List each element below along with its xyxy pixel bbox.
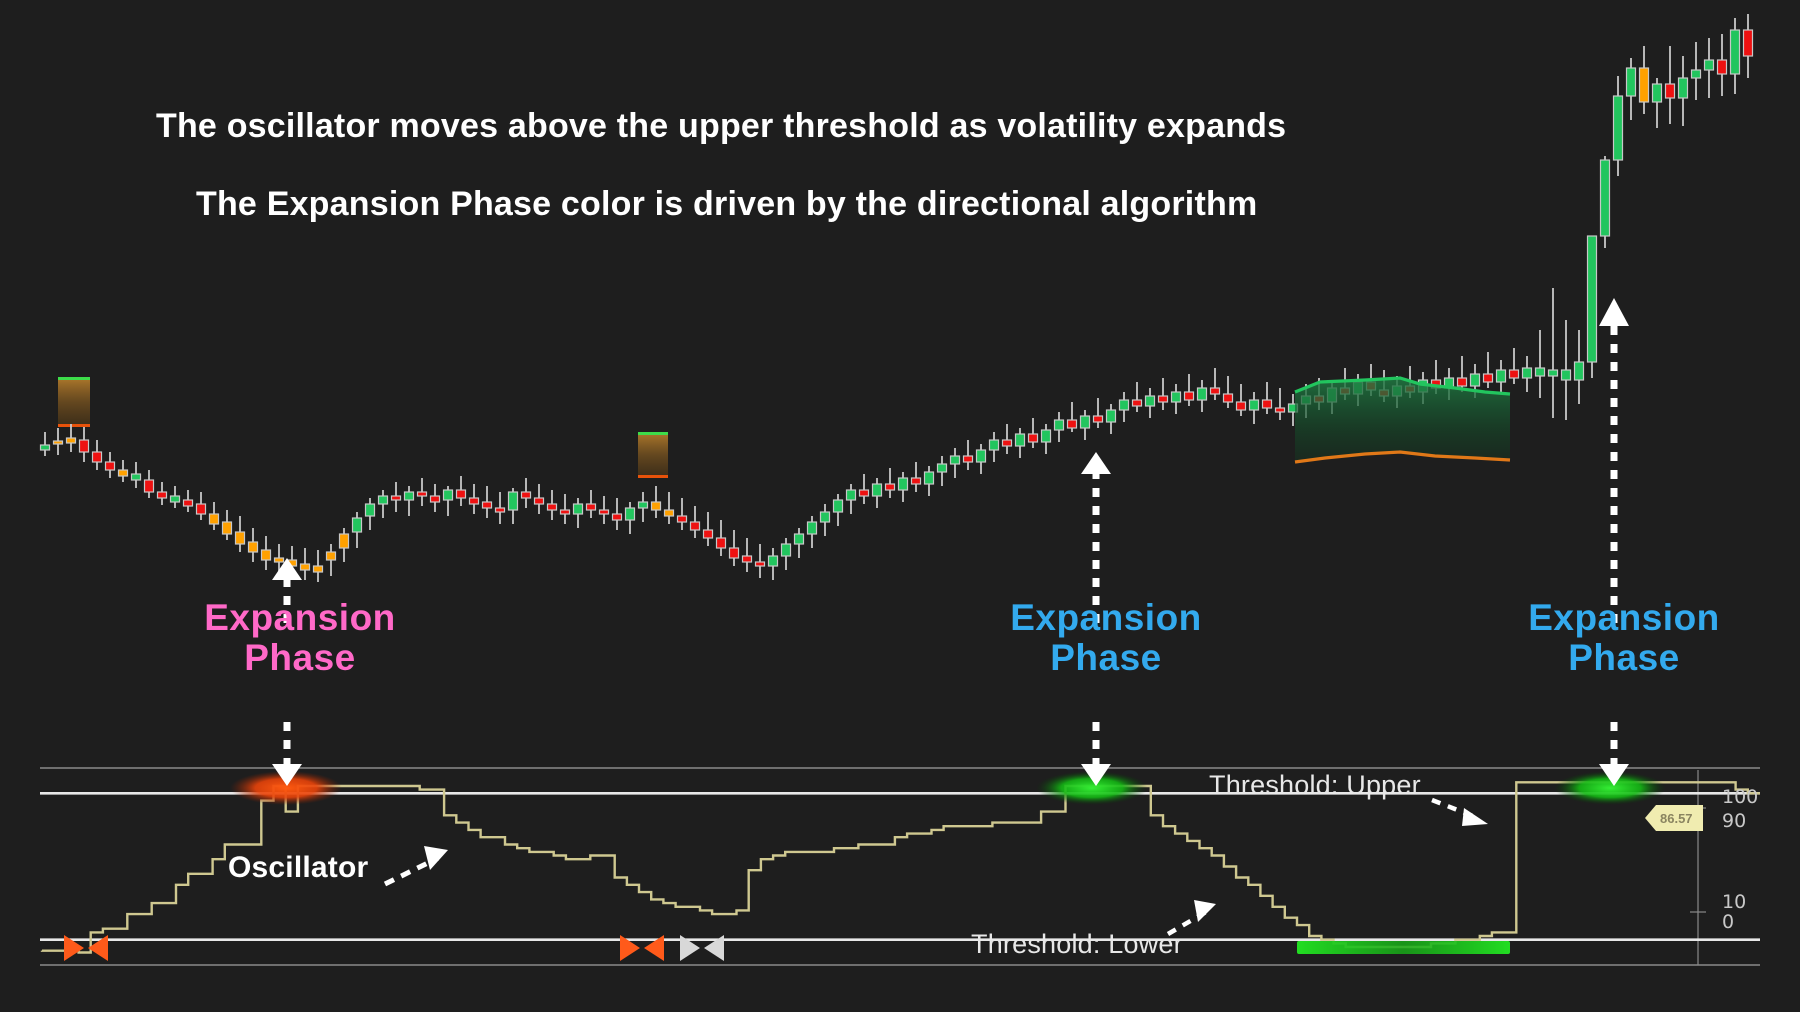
candlestick-series xyxy=(41,14,1753,582)
candle xyxy=(1744,30,1753,56)
candle xyxy=(834,500,843,512)
candle xyxy=(1484,374,1493,382)
candle xyxy=(1094,416,1103,422)
candle xyxy=(938,464,947,472)
candle xyxy=(457,490,466,498)
candle xyxy=(392,496,401,500)
candle xyxy=(639,502,648,508)
candle xyxy=(340,534,349,548)
green-band-lower-line xyxy=(1295,452,1510,462)
candle xyxy=(1120,400,1129,410)
candle xyxy=(1679,78,1688,98)
candle xyxy=(899,478,908,490)
candle xyxy=(80,440,89,452)
candle xyxy=(1068,420,1077,428)
candle xyxy=(652,502,661,510)
candle xyxy=(600,510,609,514)
candle xyxy=(1380,390,1389,396)
candle xyxy=(1458,378,1467,386)
expansion-glow-1 xyxy=(230,771,342,805)
candle xyxy=(1432,380,1441,388)
scale-tick-90: 90 xyxy=(1722,810,1746,832)
candle xyxy=(405,492,414,500)
candle xyxy=(808,522,817,534)
candle xyxy=(379,496,388,504)
candle xyxy=(743,556,752,562)
candle xyxy=(1159,396,1168,402)
candle xyxy=(1705,60,1714,70)
candle xyxy=(665,510,674,516)
candle xyxy=(301,564,310,570)
candle xyxy=(1263,400,1272,408)
bowtie-marker xyxy=(620,935,640,961)
candle xyxy=(847,490,856,500)
chart-screenshot: The oscillator moves above the upper thr… xyxy=(0,0,1800,1012)
oscillator-annotation-label: Oscillator xyxy=(228,851,368,885)
bottom-markers-row xyxy=(64,935,1510,961)
candle xyxy=(132,474,141,480)
candle xyxy=(873,484,882,496)
candle xyxy=(1419,380,1428,392)
candle xyxy=(1302,396,1311,404)
candle xyxy=(1107,410,1116,422)
candle xyxy=(522,492,531,498)
candle xyxy=(249,542,258,552)
candle xyxy=(1029,434,1038,442)
candle xyxy=(535,498,544,504)
candle xyxy=(1354,382,1363,394)
candle xyxy=(236,532,245,544)
expansion-glow-markers xyxy=(230,771,1666,805)
candle xyxy=(1276,408,1285,412)
candle xyxy=(1211,388,1220,394)
candle xyxy=(1640,68,1649,102)
candle xyxy=(912,478,921,484)
candle xyxy=(795,534,804,544)
candle xyxy=(145,480,154,492)
candle xyxy=(977,450,986,462)
candle xyxy=(262,550,271,560)
candle xyxy=(1614,96,1623,160)
candle xyxy=(1003,440,1012,446)
candle xyxy=(769,556,778,566)
candle xyxy=(106,462,115,470)
candle xyxy=(1471,374,1480,386)
candle xyxy=(860,490,869,496)
candle xyxy=(1055,420,1064,430)
candle xyxy=(327,552,336,560)
expansion-glow-2 xyxy=(1036,771,1148,805)
candle xyxy=(418,492,427,496)
candle xyxy=(990,440,999,450)
candle xyxy=(1588,236,1597,362)
green-channel-band xyxy=(1295,378,1510,462)
candle xyxy=(821,512,830,522)
price-tag-nose xyxy=(1645,805,1656,831)
candle xyxy=(704,530,713,538)
candle xyxy=(275,558,284,562)
scale-tick-100: 100 xyxy=(1722,786,1758,808)
candle xyxy=(1562,370,1571,380)
price-tag-value: 86.57 xyxy=(1656,805,1703,831)
candle xyxy=(951,456,960,464)
candle xyxy=(1185,392,1194,400)
candle xyxy=(1601,160,1610,236)
candle xyxy=(184,500,193,506)
expansion-phase-label-3: Expansion Phase xyxy=(1444,598,1800,678)
candle xyxy=(444,490,453,500)
candle xyxy=(1666,84,1675,98)
candle xyxy=(1692,70,1701,78)
candle xyxy=(1198,388,1207,400)
bowtie-marker xyxy=(704,935,724,961)
candle xyxy=(1315,396,1324,402)
scale-tick-0: 0 xyxy=(1722,911,1734,933)
candle xyxy=(587,504,596,510)
candle xyxy=(925,472,934,484)
candle xyxy=(678,516,687,522)
candle xyxy=(1523,368,1532,378)
candle xyxy=(496,508,505,512)
expansion-phase-label-1: Expansion Phase xyxy=(120,598,480,678)
candle xyxy=(41,445,50,450)
candle xyxy=(483,502,492,508)
candle xyxy=(1549,370,1558,376)
candle xyxy=(1224,394,1233,402)
candle xyxy=(691,522,700,530)
candle xyxy=(1289,404,1298,412)
candle xyxy=(431,496,440,502)
candle xyxy=(561,510,570,514)
candle xyxy=(626,508,635,520)
candle xyxy=(1627,68,1636,96)
bowtie-marker xyxy=(88,935,108,961)
orange-zone-left xyxy=(58,377,90,427)
candle xyxy=(1497,370,1506,382)
candle xyxy=(613,514,622,520)
candle xyxy=(1718,60,1727,74)
candle xyxy=(470,498,479,504)
candle xyxy=(288,560,297,566)
candle xyxy=(1172,392,1181,402)
candle xyxy=(1081,416,1090,428)
candle xyxy=(964,456,973,462)
bowtie-marker xyxy=(680,935,700,961)
candle xyxy=(67,438,76,443)
bowtie-marker xyxy=(644,935,664,961)
candle xyxy=(1237,402,1246,410)
candle xyxy=(756,562,765,566)
bowtie-marker xyxy=(64,935,84,961)
candle xyxy=(210,514,219,524)
candle xyxy=(1341,388,1350,394)
candle xyxy=(1731,30,1740,74)
candle xyxy=(158,492,167,498)
candle xyxy=(1250,400,1259,410)
headline-line-1: The oscillator moves above the upper thr… xyxy=(156,107,1286,146)
scale-tick-10: 10 xyxy=(1722,891,1746,913)
candle xyxy=(197,504,206,514)
candle xyxy=(509,492,518,510)
candle xyxy=(366,504,375,516)
candle xyxy=(1393,386,1402,396)
candle xyxy=(1445,378,1454,388)
candle xyxy=(730,548,739,558)
candle xyxy=(119,470,128,476)
candle xyxy=(353,518,362,532)
candle xyxy=(1328,388,1337,402)
candle xyxy=(886,484,895,490)
candle xyxy=(717,538,726,548)
candle xyxy=(782,544,791,556)
expansion-phase-label-2: Expansion Phase xyxy=(926,598,1286,678)
candle xyxy=(1575,362,1584,380)
candle xyxy=(93,452,102,462)
candle xyxy=(54,441,63,444)
candle xyxy=(314,566,323,572)
candle xyxy=(223,522,232,534)
candle xyxy=(1653,84,1662,102)
candle xyxy=(1146,396,1155,406)
candle xyxy=(1367,382,1376,390)
orange-zone-mid xyxy=(638,432,668,478)
green-band-fill xyxy=(1295,378,1510,462)
headline-line-2: The Expansion Phase color is driven by t… xyxy=(196,185,1257,224)
shaded-zones xyxy=(58,377,668,478)
candle xyxy=(1536,368,1545,376)
green-band-upper-line xyxy=(1295,378,1510,394)
candle xyxy=(171,496,180,502)
price-tag-badge: 86.57 xyxy=(1645,805,1703,831)
candle xyxy=(574,504,583,514)
candle xyxy=(1042,430,1051,442)
threshold-lower-annotation-label: Threshold: Lower xyxy=(971,929,1183,960)
candle xyxy=(1406,386,1415,392)
candle xyxy=(1016,434,1025,446)
threshold-upper-annotation-label: Threshold: Upper xyxy=(1209,770,1421,801)
candle xyxy=(1510,370,1519,378)
green-bar-marker xyxy=(1297,941,1510,954)
candle xyxy=(1133,400,1142,406)
candle xyxy=(548,504,557,510)
expansion-glow-3 xyxy=(1554,771,1666,805)
